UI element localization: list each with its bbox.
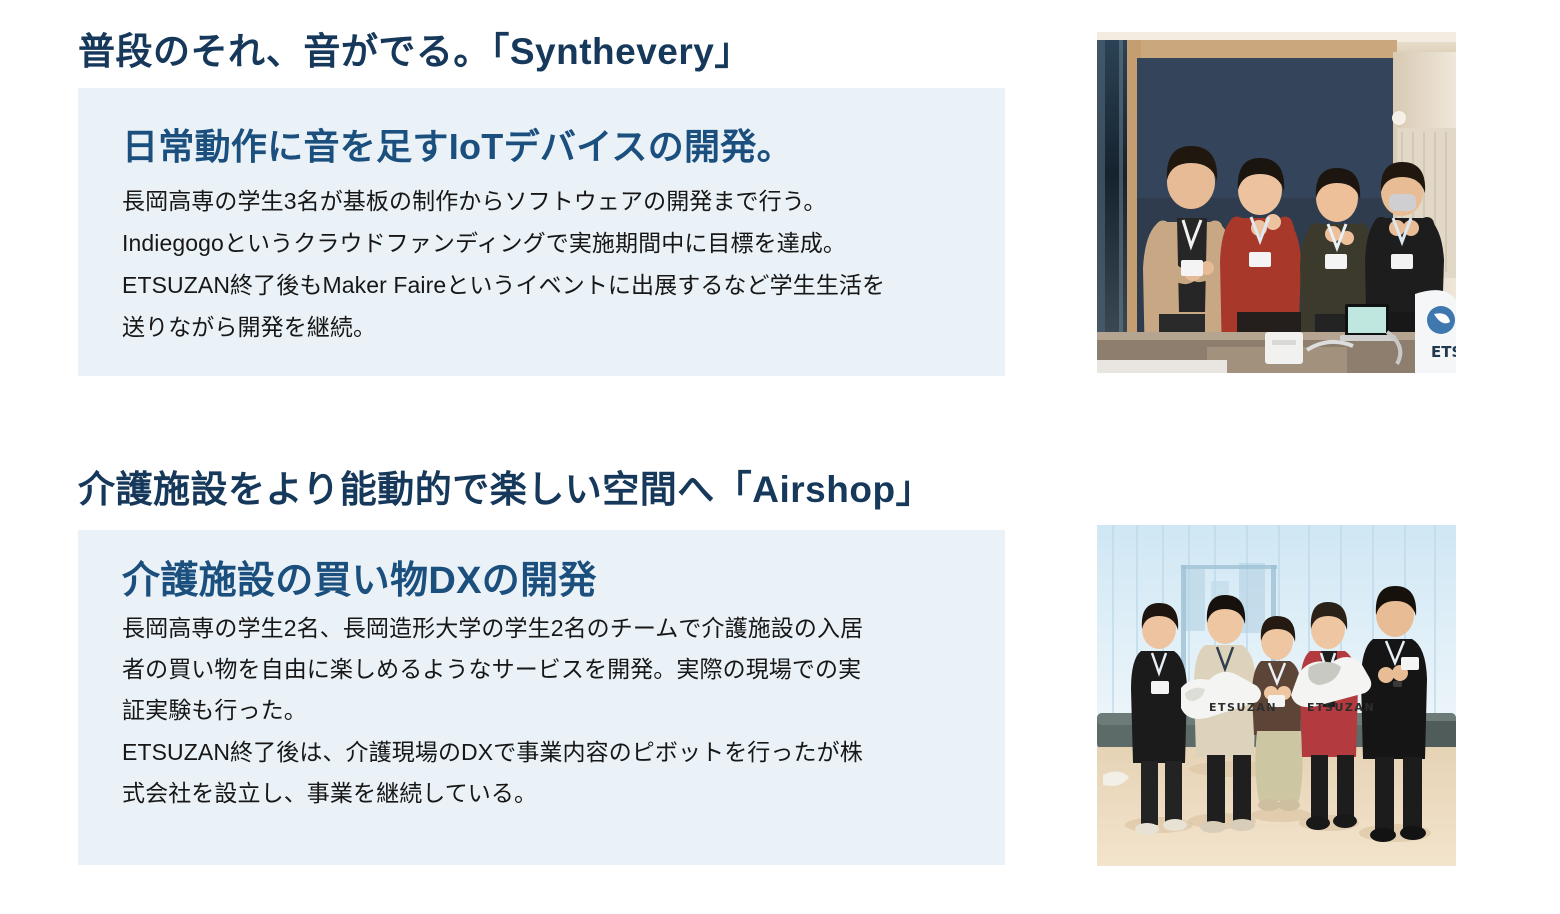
panel-title-synthevery: 日常動作に音を足すIoTデバイスの開発。 xyxy=(122,126,965,167)
panel-title-airshop: 介護施設の買い物DXの開発 xyxy=(122,560,965,604)
panel-body-airshop: 長岡高専の学生2名、長岡造形大学の学生2名のチームで介護施設の入居 者の買い物を… xyxy=(122,608,965,815)
photo-airshop-illustration: ETSUZAN ETSUZAN xyxy=(1097,525,1456,866)
svg-text:ETSUZAN: ETSUZAN xyxy=(1209,701,1277,714)
content-panel-airshop: 介護施設の買い物DXの開発 長岡高専の学生2名、長岡造形大学の学生2名のチームで… xyxy=(78,530,1005,865)
section-heading-synthevery: 普段のそれ、音がでる。「Synthevery」 xyxy=(78,32,752,73)
svg-text:ETSUZAN: ETSUZAN xyxy=(1307,701,1375,714)
content-panel-synthevery: 日常動作に音を足すIoTデバイスの開発。 長岡高専の学生3名が基板の制作からソフ… xyxy=(78,88,1005,376)
page-root: 普段のそれ、音がでる。「Synthevery」 日常動作に音を足すIoTデバイス… xyxy=(0,0,1560,914)
section-heading-airshop: 介護施設をより能動的で楽しい空間へ「Airshop」 xyxy=(78,470,933,511)
airshop-team-photo: ETSUZAN ETSUZAN xyxy=(1097,525,1456,866)
svg-text:ETS: ETS xyxy=(1431,343,1456,361)
photo-synthevery-illustration: ETS xyxy=(1097,32,1456,373)
synthevery-team-photo: ETS xyxy=(1097,32,1456,373)
panel-body-synthevery: 長岡高専の学生3名が基板の制作からソフトウェアの開発まで行う。 Indiegog… xyxy=(122,181,965,348)
